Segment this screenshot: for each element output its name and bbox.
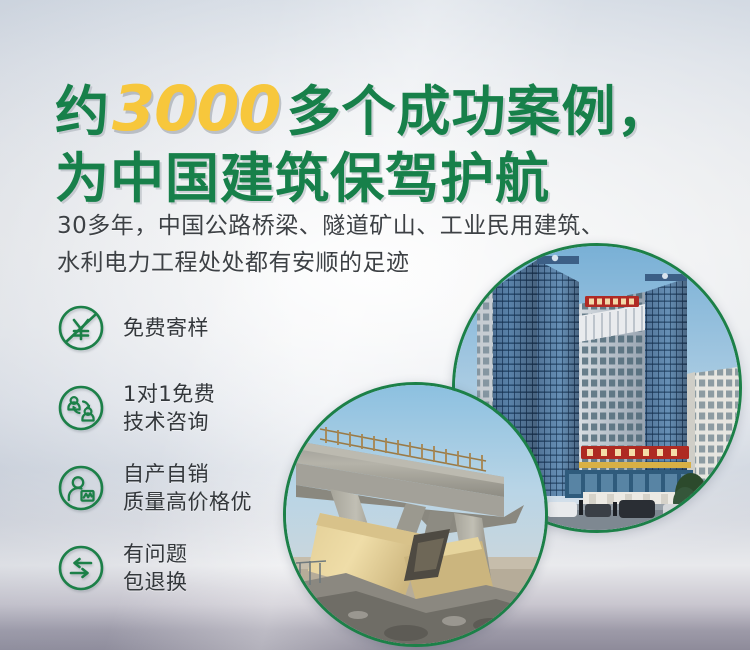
feature-label-line-2: 包退换 (123, 568, 188, 596)
headline-line-1: 约3000多个成功案例， (55, 78, 672, 140)
no-fee-yuan-icon (55, 302, 107, 354)
feature-label-consult: 1对1免费 技术咨询 (123, 380, 215, 437)
headline-line-2: 为中国建筑保驾护航 (55, 152, 672, 206)
feature-label-line-2: 质量高价格优 (123, 488, 252, 516)
one-to-one-consult-icon (55, 382, 107, 434)
headline-number: 3000 (110, 72, 287, 145)
feature-list: 免费寄样 1对1免费 技术咨询 (55, 292, 252, 612)
subtitle-line-1: 30多年，中国公路桥梁、隧道矿山、工业民用建筑、 (57, 208, 604, 245)
feature-label-line-1: 1对1免费 (123, 380, 215, 408)
feature-item-self-produce[interactable]: 自产自销 质量高价格优 (55, 452, 252, 524)
bridge-illustration (286, 385, 548, 647)
headline-suffix: 多个成功案例， (287, 80, 672, 143)
feature-item-return[interactable]: 有问题 包退换 (55, 532, 252, 604)
feature-label-line-1: 免费寄样 (123, 314, 209, 342)
self-produce-sell-icon (55, 462, 107, 514)
feature-label-self-produce: 自产自销 质量高价格优 (123, 460, 252, 517)
subtitle: 30多年，中国公路桥梁、隧道矿山、工业民用建筑、 水利电力工程处处都有安顺的足迹 (57, 208, 604, 283)
promo-banner: 约3000多个成功案例， 为中国建筑保驾护航 30多年，中国公路桥梁、隧道矿山、… (0, 0, 750, 650)
feature-item-consult[interactable]: 1对1免费 技术咨询 (55, 372, 252, 444)
return-exchange-icon (55, 542, 107, 594)
subtitle-line-2: 水利电力工程处处都有安顺的足迹 (57, 245, 604, 282)
feature-label-return: 有问题 包退换 (123, 540, 188, 597)
feature-item-free-sample[interactable]: 免费寄样 (55, 292, 252, 364)
feature-label-line-1: 自产自销 (123, 460, 252, 488)
page-title: 约3000多个成功案例， 为中国建筑保驾护航 (55, 78, 672, 206)
feature-label-free-sample: 免费寄样 (123, 314, 209, 342)
headline-prefix: 约 (55, 80, 110, 143)
feature-label-line-1: 有问题 (123, 540, 188, 568)
feature-label-line-2: 技术咨询 (123, 408, 215, 436)
concrete-bridge-photo (283, 382, 548, 647)
